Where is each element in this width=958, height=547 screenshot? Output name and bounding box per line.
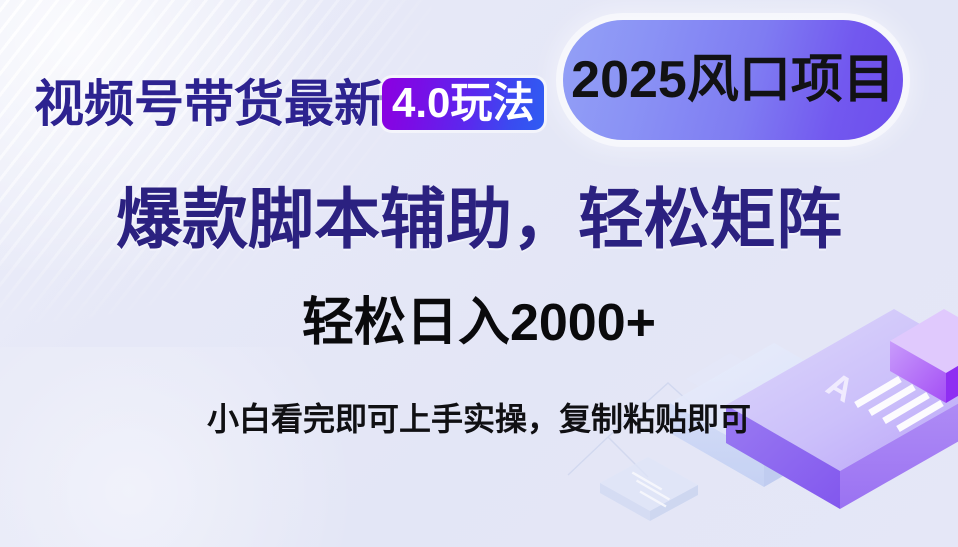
- main-headline: 爆款脚本辅助，轻松矩阵: [0, 186, 958, 253]
- title-line-1-text: 视频号带货最新: [34, 79, 384, 129]
- sub-headline: 轻松日入2000+: [0, 297, 958, 349]
- promo-banner: A 2025风口项目 视频号带货最新: [0, 0, 958, 547]
- version-badge-4-0: 4.0玩法: [382, 78, 544, 130]
- pill-badge-2025: 2025风口项目: [563, 20, 903, 140]
- banner-content: 2025风口项目 视频号带货最新 4.0玩法 爆款脚本辅助，轻松矩阵 轻松日入2…: [0, 0, 958, 547]
- title-line-1: 视频号带货最新 4.0玩法: [34, 78, 544, 130]
- pill-badge-label: 2025风口项目: [571, 54, 895, 106]
- footnote-text: 小白看完即可上手实操，复制粘贴即可: [0, 403, 958, 435]
